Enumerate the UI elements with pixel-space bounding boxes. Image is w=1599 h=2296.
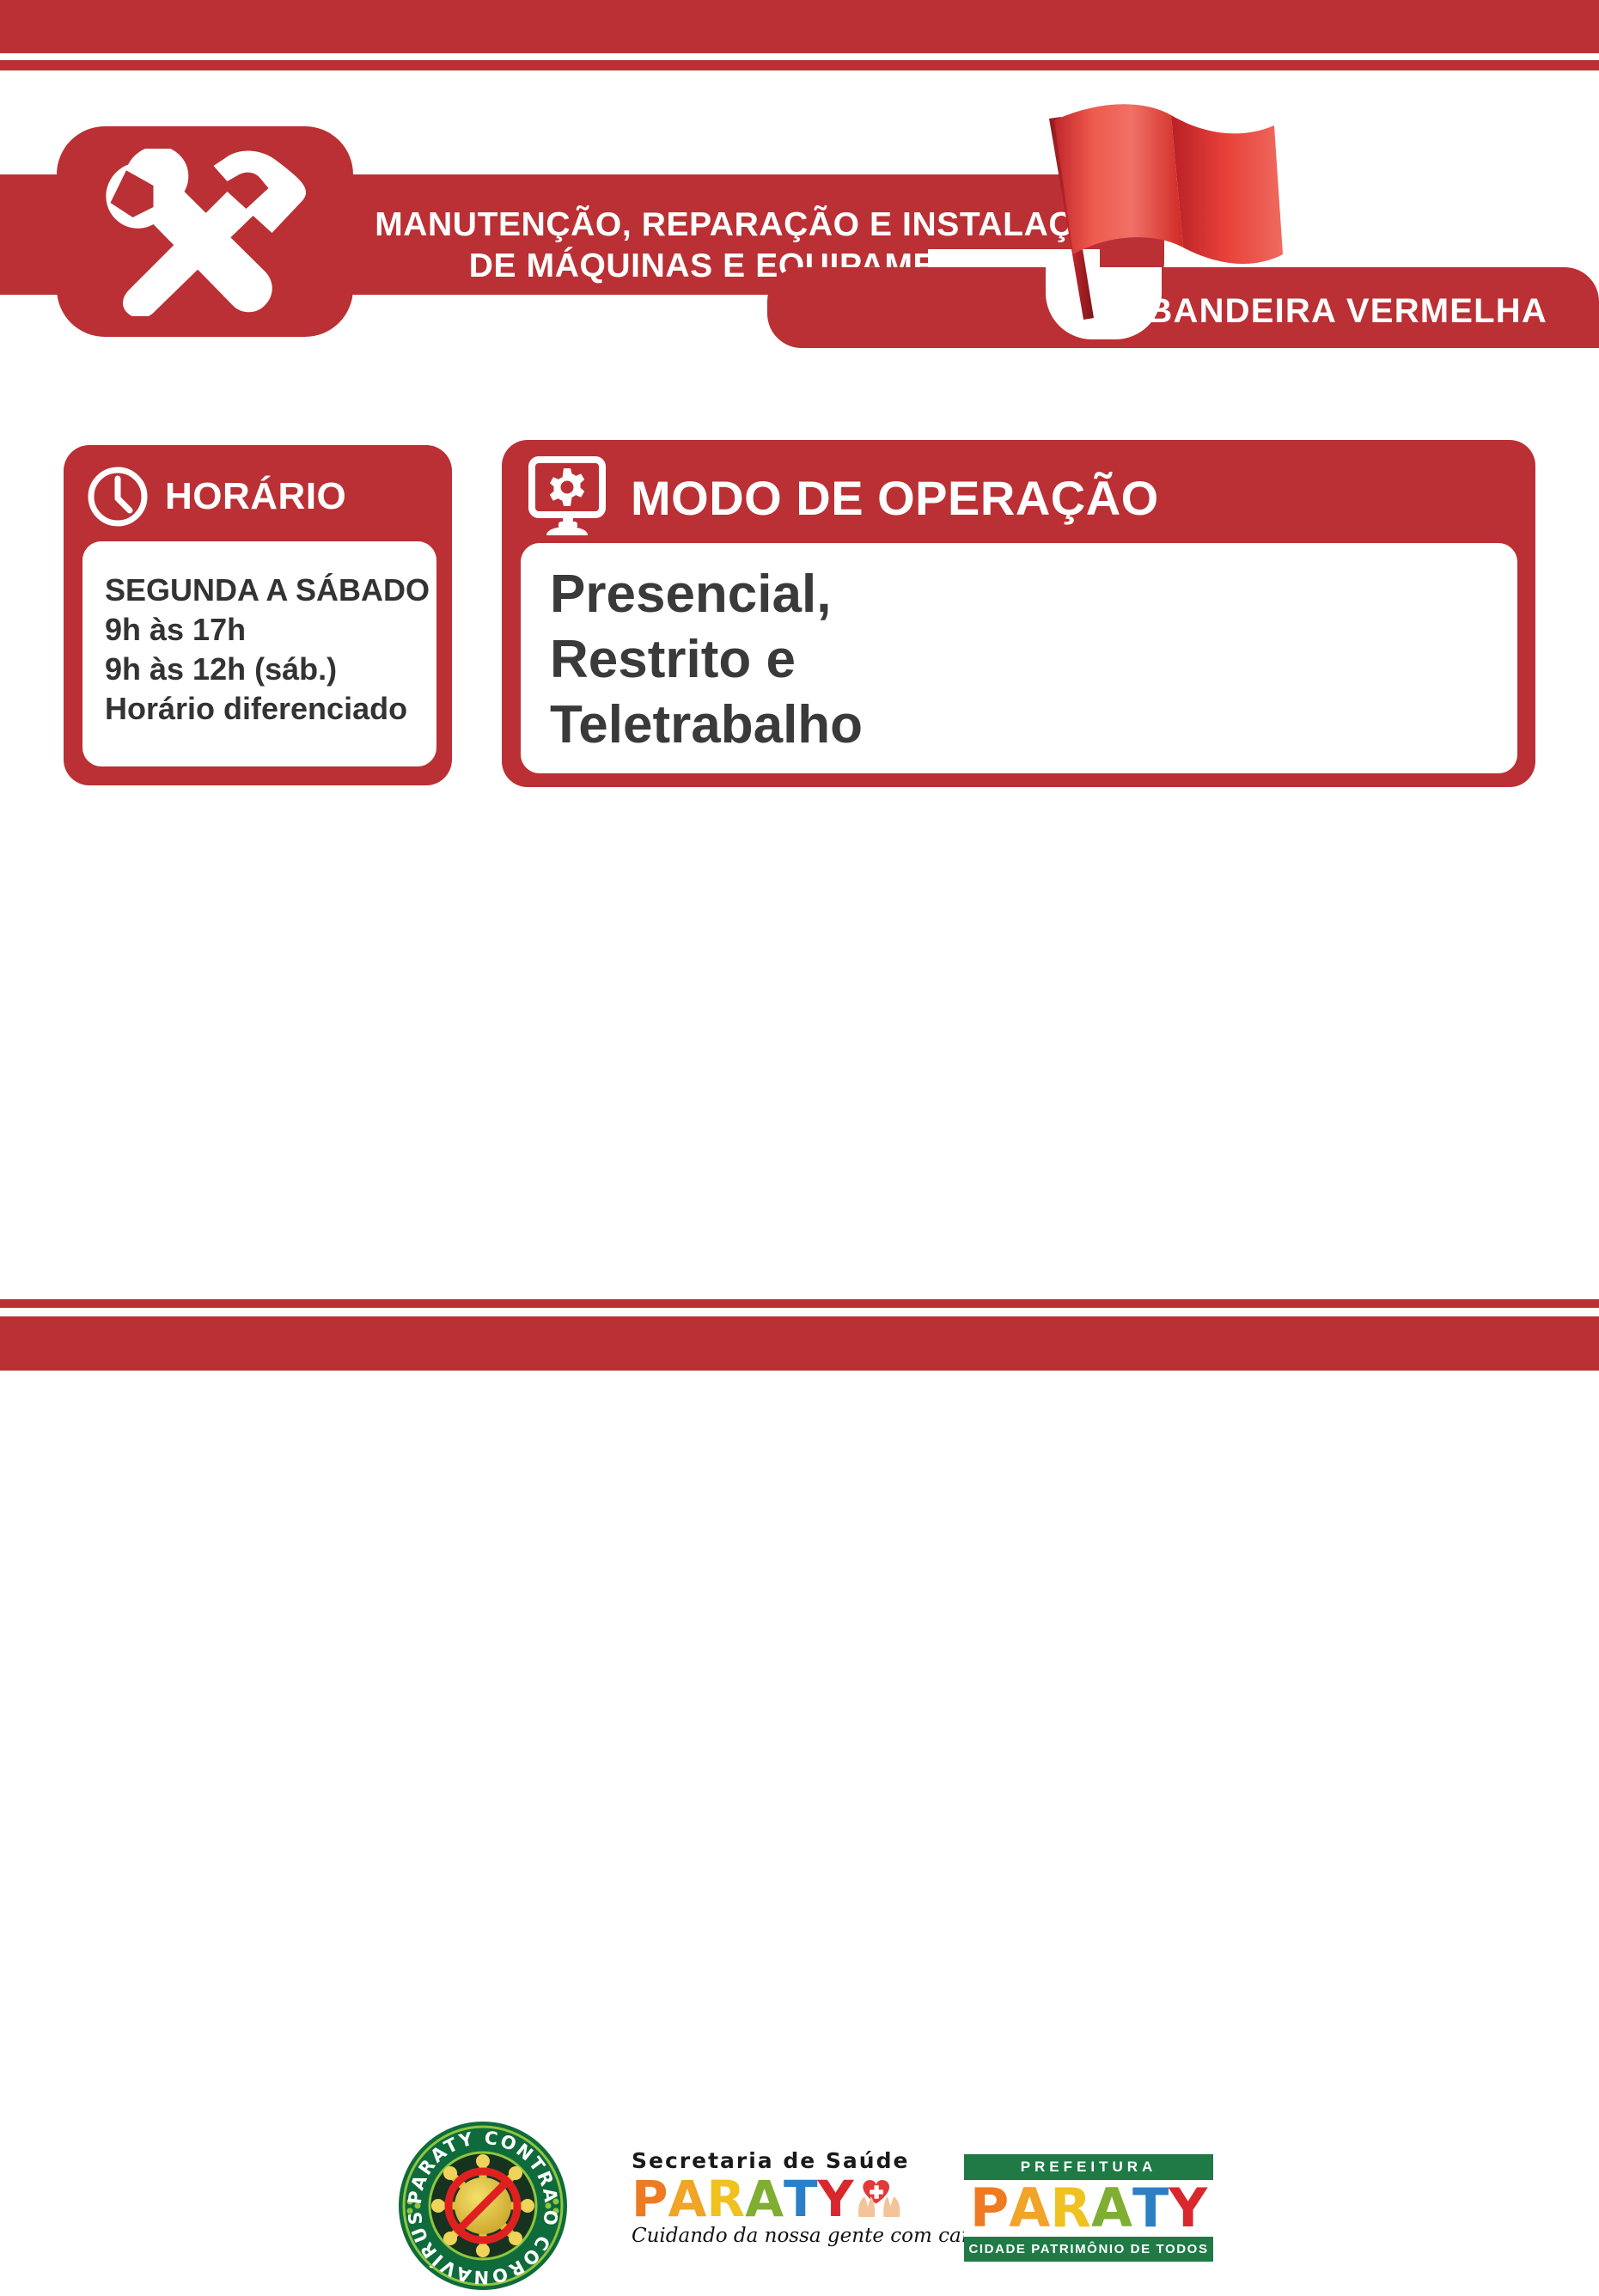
footer-logos: PARATY CONTRA O CORONAVÍRUS Secretaria d… <box>0 1061 1599 1246</box>
secretaria-de-saude-paraty-logo: Secretaria de Saúde PARATY Cuidando da n… <box>632 2148 902 2269</box>
prefeitura-wordmark: PARATY <box>964 2180 1213 2237</box>
red-flag-icon <box>1044 103 1353 339</box>
horario-line-3: 9h às 12h (sáb.) <box>105 650 414 689</box>
secretaria-wordmark: PARATY <box>632 2173 902 2225</box>
card-modo-title: MODO DE OPERAÇÃO <box>631 470 1159 526</box>
secretaria-title: Secretaria de Saúde <box>632 2148 902 2173</box>
modo-line-2: Restrito e <box>550 627 1488 693</box>
clock-icon <box>86 465 150 528</box>
modo-line-3: Teletrabalho <box>550 693 1488 758</box>
poster-canvas: MANUTENÇÃO, REPARAÇÃO E INSTALAÇÃO DE MÁ… <box>0 0 1599 1371</box>
card-horario-header: HORÁRIO <box>86 466 430 528</box>
heart-hands-icon <box>856 2173 902 2223</box>
horario-line-1: SEGUNDA A SÁBADO <box>105 571 414 610</box>
prefeitura-bottom-label: CIDADE PATRIMÔNIO DE TODOS <box>964 2237 1213 2262</box>
prefeitura-paraty-logo: PREFEITURA PARATY CIDADE PATRIMÔNIO DE T… <box>964 2154 1213 2266</box>
bottom-bar-thick <box>0 1316 1599 1371</box>
bottom-bar-thin <box>0 1299 1599 1308</box>
top-bar-thin <box>0 60 1599 70</box>
monitor-gear-icon <box>526 456 612 539</box>
paraty-contra-coronavirus-badge: PARATY CONTRA O CORONAVÍRUS <box>397 2120 569 2292</box>
secretaria-slogan: Cuidando da nossa gente com carinho! <box>632 2225 902 2247</box>
tools-wrench-hammer-icon <box>74 149 336 316</box>
top-bar-thick <box>0 0 1599 53</box>
horario-line-2: 9h às 17h <box>105 610 414 650</box>
card-horario-title: HORÁRIO <box>165 475 346 518</box>
card-modo-header: MODO DE OPERAÇÃO <box>526 453 1505 542</box>
card-modo-body: Presencial, Restrito e Teletrabalho <box>521 543 1517 773</box>
card-horario-body: SEGUNDA A SÁBADO 9h às 17h 9h às 12h (sá… <box>82 541 436 766</box>
page-title-line-1: MANUTENÇÃO, REPARAÇÃO E INSTALAÇÃO <box>375 206 1125 243</box>
horario-line-4: Horário diferenciado <box>105 689 414 729</box>
tools-icon-badge <box>57 126 353 337</box>
modo-line-1: Presencial, <box>550 562 1488 627</box>
prefeitura-top-label: PREFEITURA <box>964 2154 1213 2180</box>
